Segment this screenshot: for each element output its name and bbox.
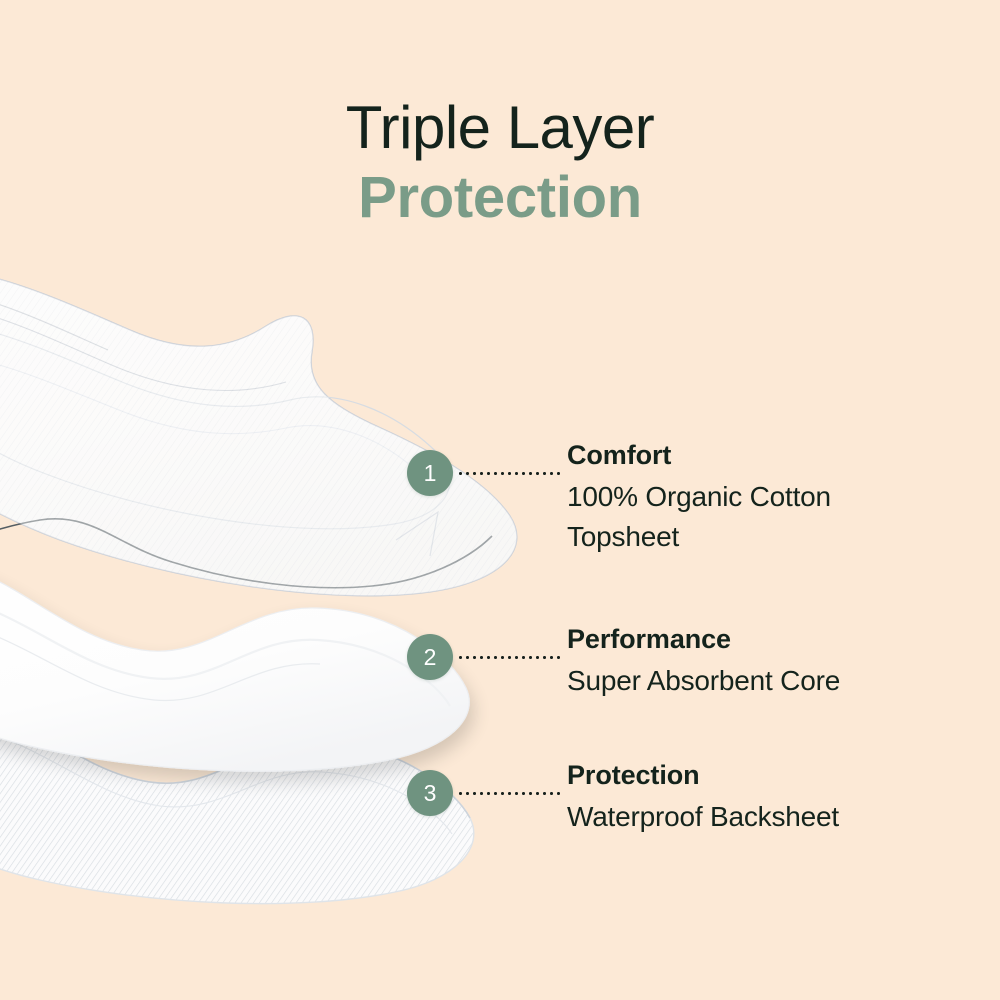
callout-text-2: Performance Super Absorbent Core [567, 621, 967, 701]
leader-line-1 [453, 450, 567, 496]
page-title: Triple Layer Protection [0, 96, 1000, 230]
callout-text-1: Comfort 100% Organic Cotton Topsheet [567, 437, 967, 557]
callout-item-3: 3 Protection Waterproof Backsheet [407, 770, 967, 837]
callout-heading-1: Comfort [567, 437, 967, 473]
callout-description-1: 100% Organic Cotton Topsheet [567, 477, 927, 557]
infographic-canvas: Triple Layer Protection 1 Comfort 100% O… [0, 0, 1000, 1000]
callout-item-2: 2 Performance Super Absorbent Core [407, 634, 967, 701]
callout-heading-3: Protection [567, 757, 967, 793]
leader-line-3 [453, 770, 567, 816]
title-line-accent: Protection [0, 166, 1000, 230]
badge-number-2: 2 [407, 634, 453, 680]
leader-line-2 [453, 634, 567, 680]
callout-description-3: Waterproof Backsheet [567, 797, 927, 837]
callout-description-2: Super Absorbent Core [567, 661, 927, 701]
badge-number-1: 1 [407, 450, 453, 496]
callout-item-1: 1 Comfort 100% Organic Cotton Topsheet [407, 450, 967, 557]
title-line-primary: Triple Layer [0, 96, 1000, 160]
callout-heading-2: Performance [567, 621, 967, 657]
callout-text-3: Protection Waterproof Backsheet [567, 757, 967, 837]
badge-number-3: 3 [407, 770, 453, 816]
